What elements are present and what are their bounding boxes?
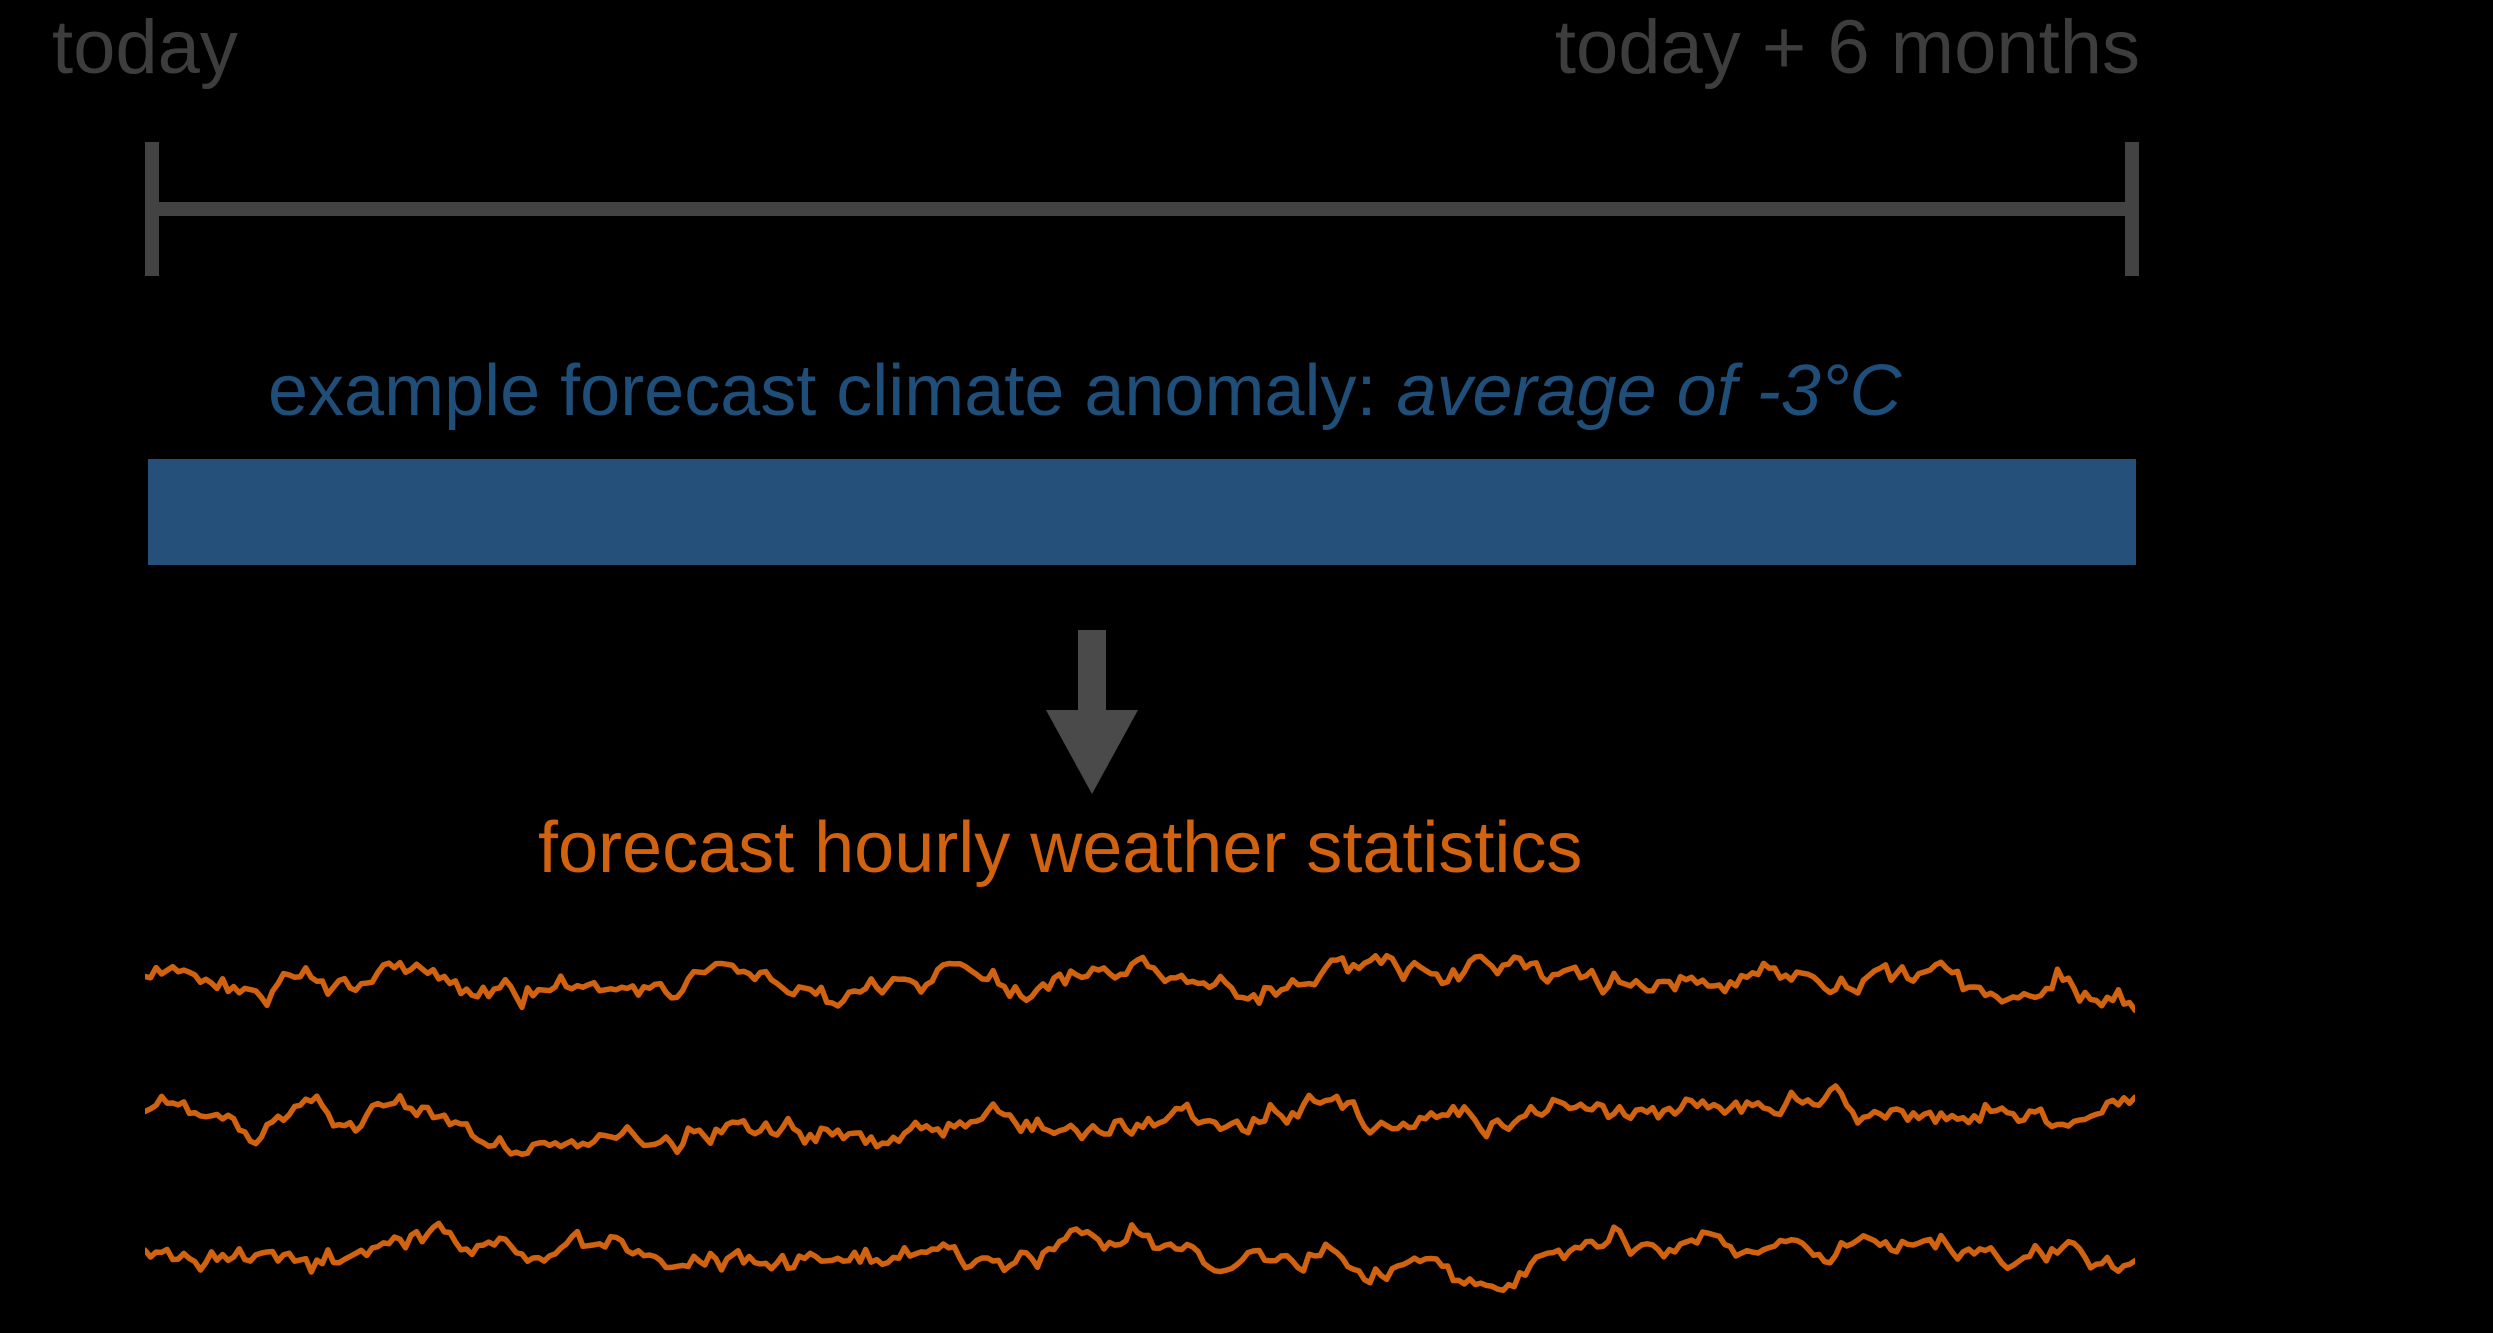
- weather-caption: forecast hourly weather statistics: [538, 812, 1582, 884]
- anomaly-band: [148, 459, 2136, 565]
- anomaly-caption-plain: example forecast climate anomaly:: [268, 351, 1396, 431]
- weather-trace-line: [145, 956, 2135, 1010]
- anomaly-caption: example forecast climate anomaly: averag…: [268, 355, 1902, 427]
- weather-trace-line: [145, 1223, 2135, 1290]
- timeline-ruler: [145, 142, 2139, 276]
- timeline-end-label: today + 6 months: [1555, 10, 2140, 86]
- timeline-axis-line: [145, 202, 2139, 216]
- anomaly-caption-emphasis: average of -3°C: [1396, 351, 1901, 431]
- timeline-end-tick: [2125, 142, 2139, 276]
- arrow-down-icon: [1046, 630, 1138, 794]
- timeline-start-label: today: [52, 10, 238, 86]
- weather-timeseries-chart: [145, 926, 2135, 1326]
- weather-trace-line: [145, 1086, 2135, 1154]
- diagram-canvas: today today + 6 months example forecast …: [0, 0, 2493, 1333]
